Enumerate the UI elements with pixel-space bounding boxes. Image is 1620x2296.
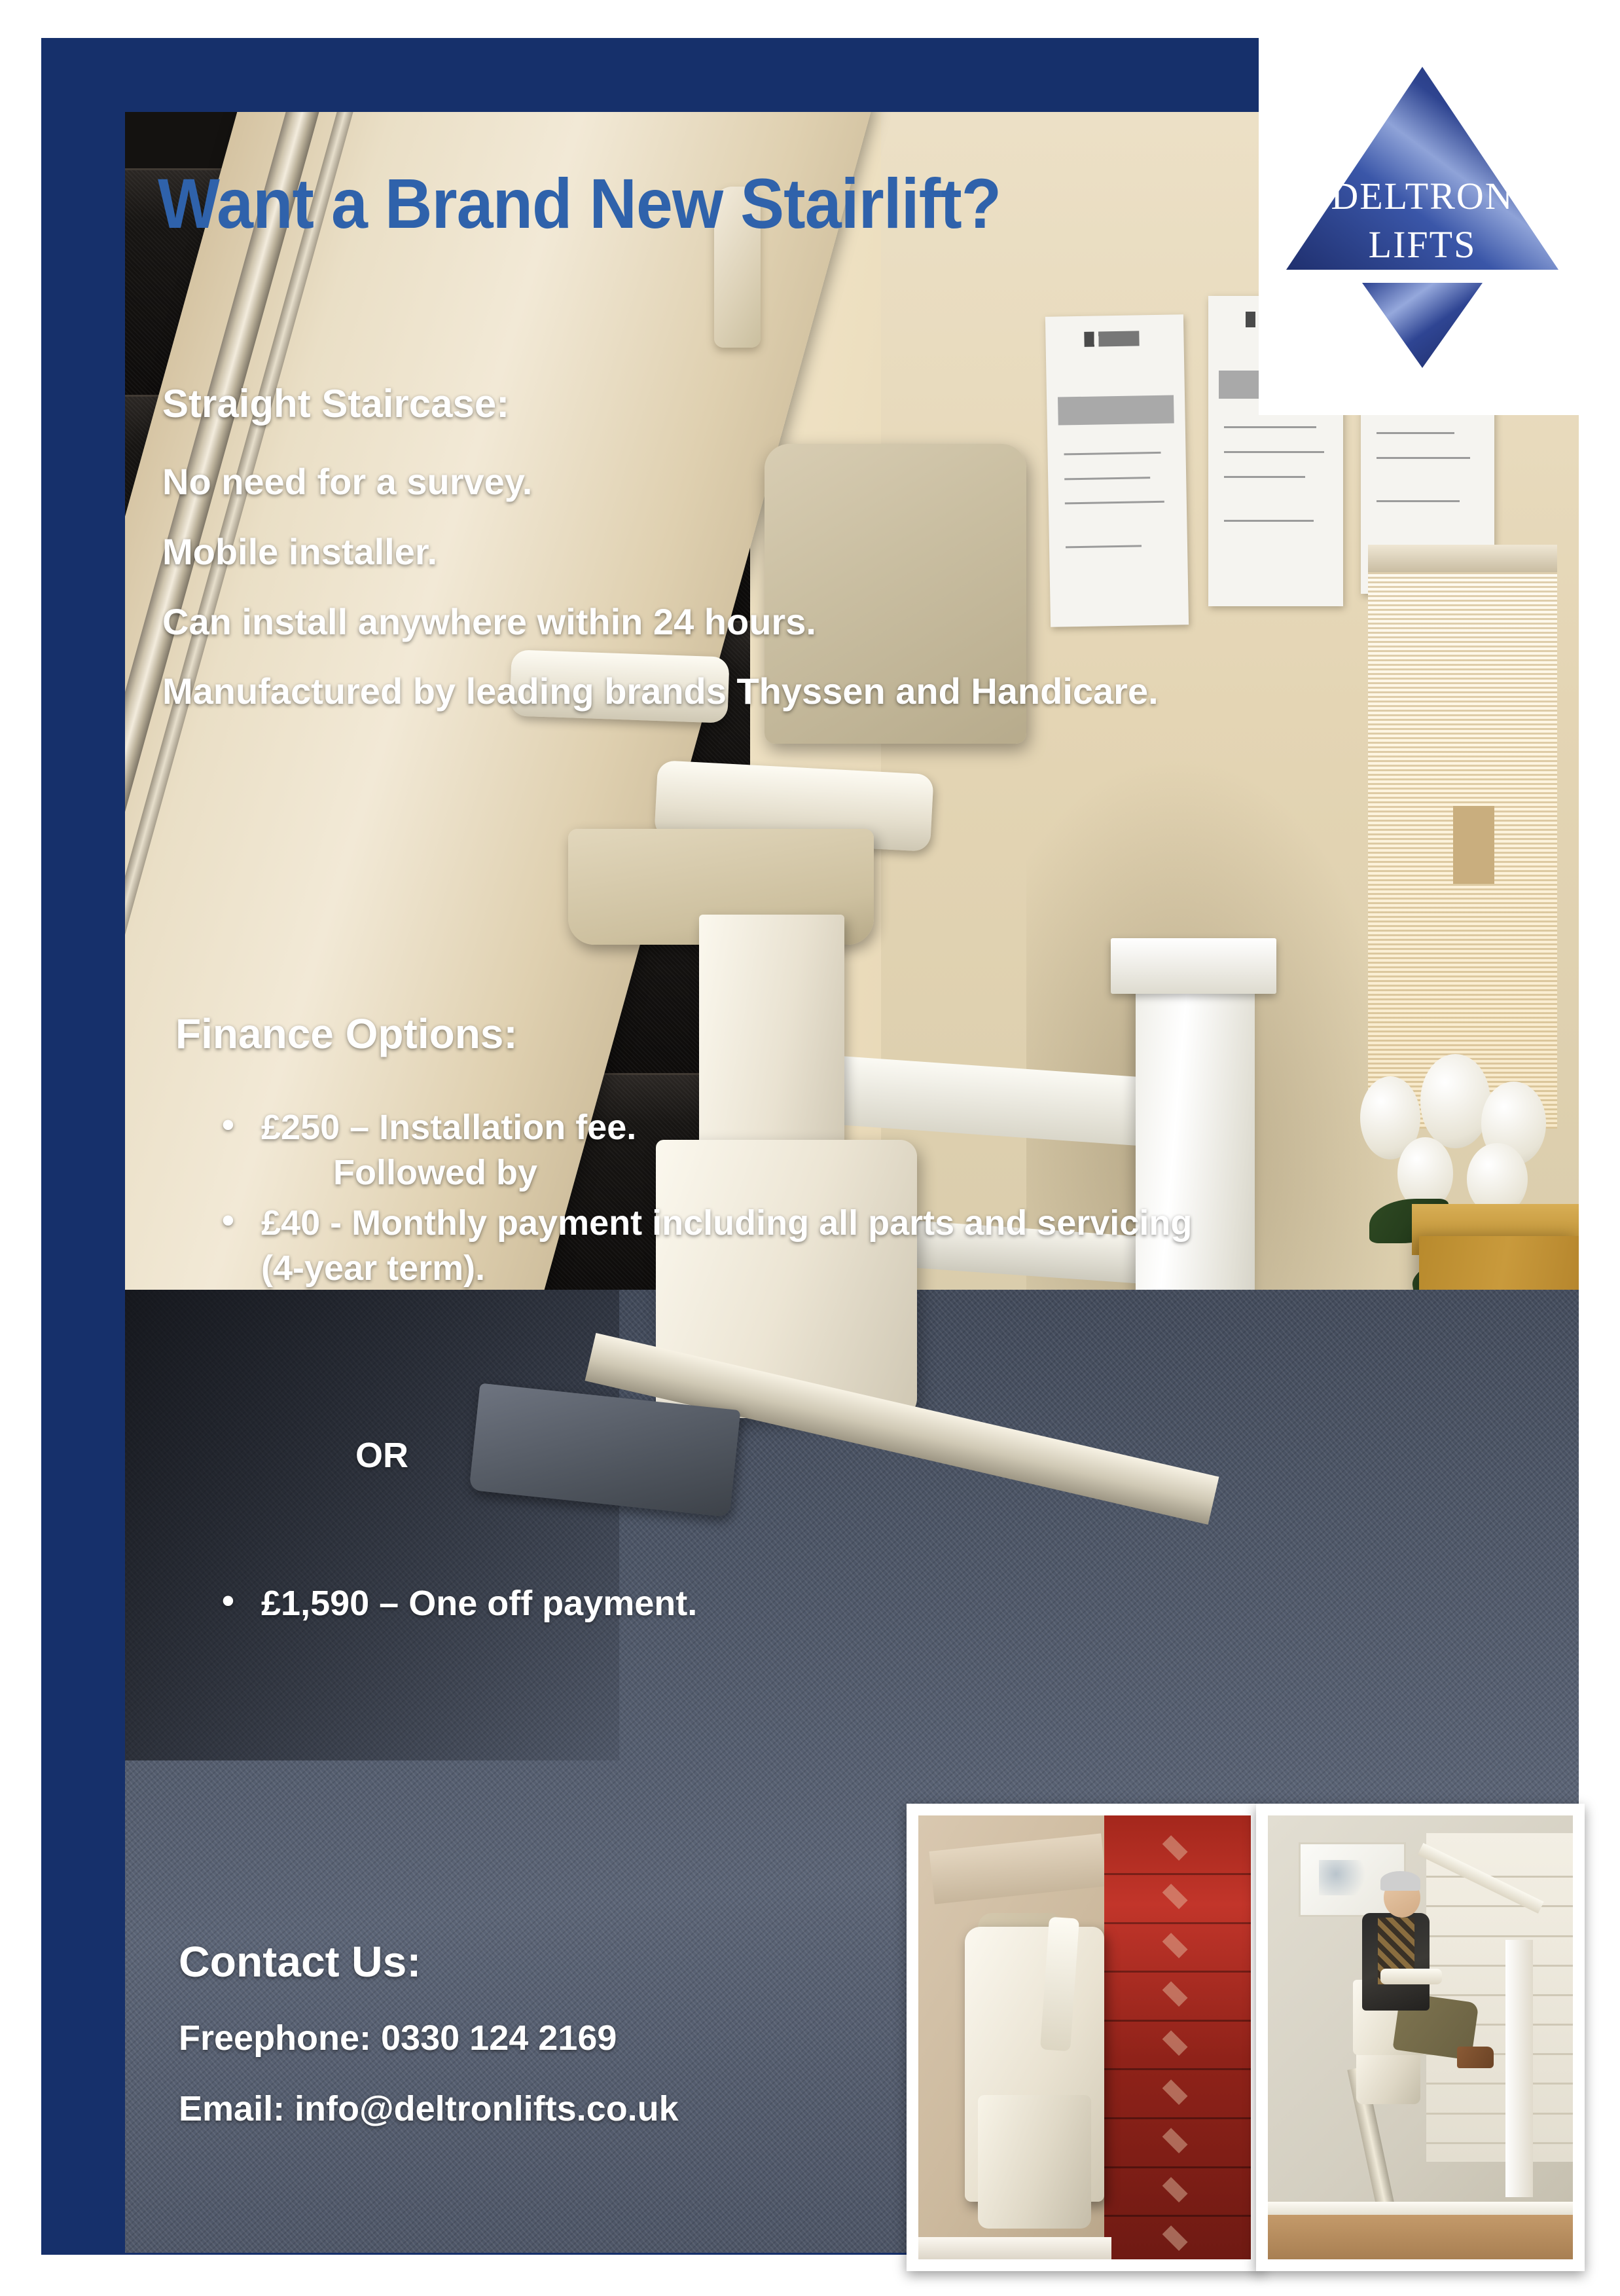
section-heading-straight-staircase: Straight Staircase: xyxy=(162,378,1223,429)
contact-email[interactable]: Email: info@deltronlifts.co.uk xyxy=(179,2088,679,2129)
finance-option-installation-text: £250 – Installation fee. xyxy=(261,1108,636,1147)
finance-one-off-list: £1,590 – One off payment. xyxy=(205,1583,1121,1624)
logo-wordmark-deltron: DELTRON xyxy=(1259,174,1586,218)
finance-option-monthly-text: £40 - Monthly payment including all part… xyxy=(261,1203,1192,1288)
page-title: Want a Brand New Stairlift? xyxy=(158,162,1193,244)
finance-options-list: £250 – Installation fee. Followed by £40… xyxy=(205,1105,1226,1296)
benefit-24-hours: Can install anywhere within 24 hours. xyxy=(162,598,1223,646)
inset-photo-user-on-stairlift xyxy=(1256,1804,1585,2271)
section-heading-finance-options: Finance Options: xyxy=(175,1010,518,1058)
contact-phone[interactable]: Freephone: 0330 124 2169 xyxy=(179,2018,679,2058)
newel-post-cap xyxy=(1111,938,1276,994)
finance-option-one-off-text: £1,590 – One off payment. xyxy=(261,1584,697,1623)
benefit-brands: Manufactured by leading brands Thyssen a… xyxy=(162,668,1210,716)
finance-option-one-off: £1,590 – One off payment. xyxy=(205,1583,1121,1624)
logo-wordmark-lifts: LIFTS xyxy=(1259,223,1586,266)
brand-logo-box: DELTRON LIFTS xyxy=(1259,38,1586,415)
benefit-mobile-installer: Mobile installer. xyxy=(162,528,1223,576)
contact-block: Contact Us: Freephone: 0330 124 2169 Ema… xyxy=(179,1937,679,2159)
carpet-shadow xyxy=(125,1290,619,1760)
finance-separator-or: OR xyxy=(355,1435,408,1476)
body-copy: Straight Staircase: No need for a survey… xyxy=(162,378,1223,738)
inset-photo-folded-stairlift xyxy=(907,1804,1263,2271)
finance-option-followed-by: Followed by xyxy=(261,1150,1226,1195)
finance-option-installation: £250 – Installation fee. Followed by xyxy=(205,1105,1226,1195)
contact-heading: Contact Us: xyxy=(179,1937,679,1986)
finance-option-monthly: £40 - Monthly payment including all part… xyxy=(205,1201,1226,1291)
window-with-blind xyxy=(1368,572,1557,1129)
benefit-no-survey: No need for a survey. xyxy=(162,458,1223,506)
